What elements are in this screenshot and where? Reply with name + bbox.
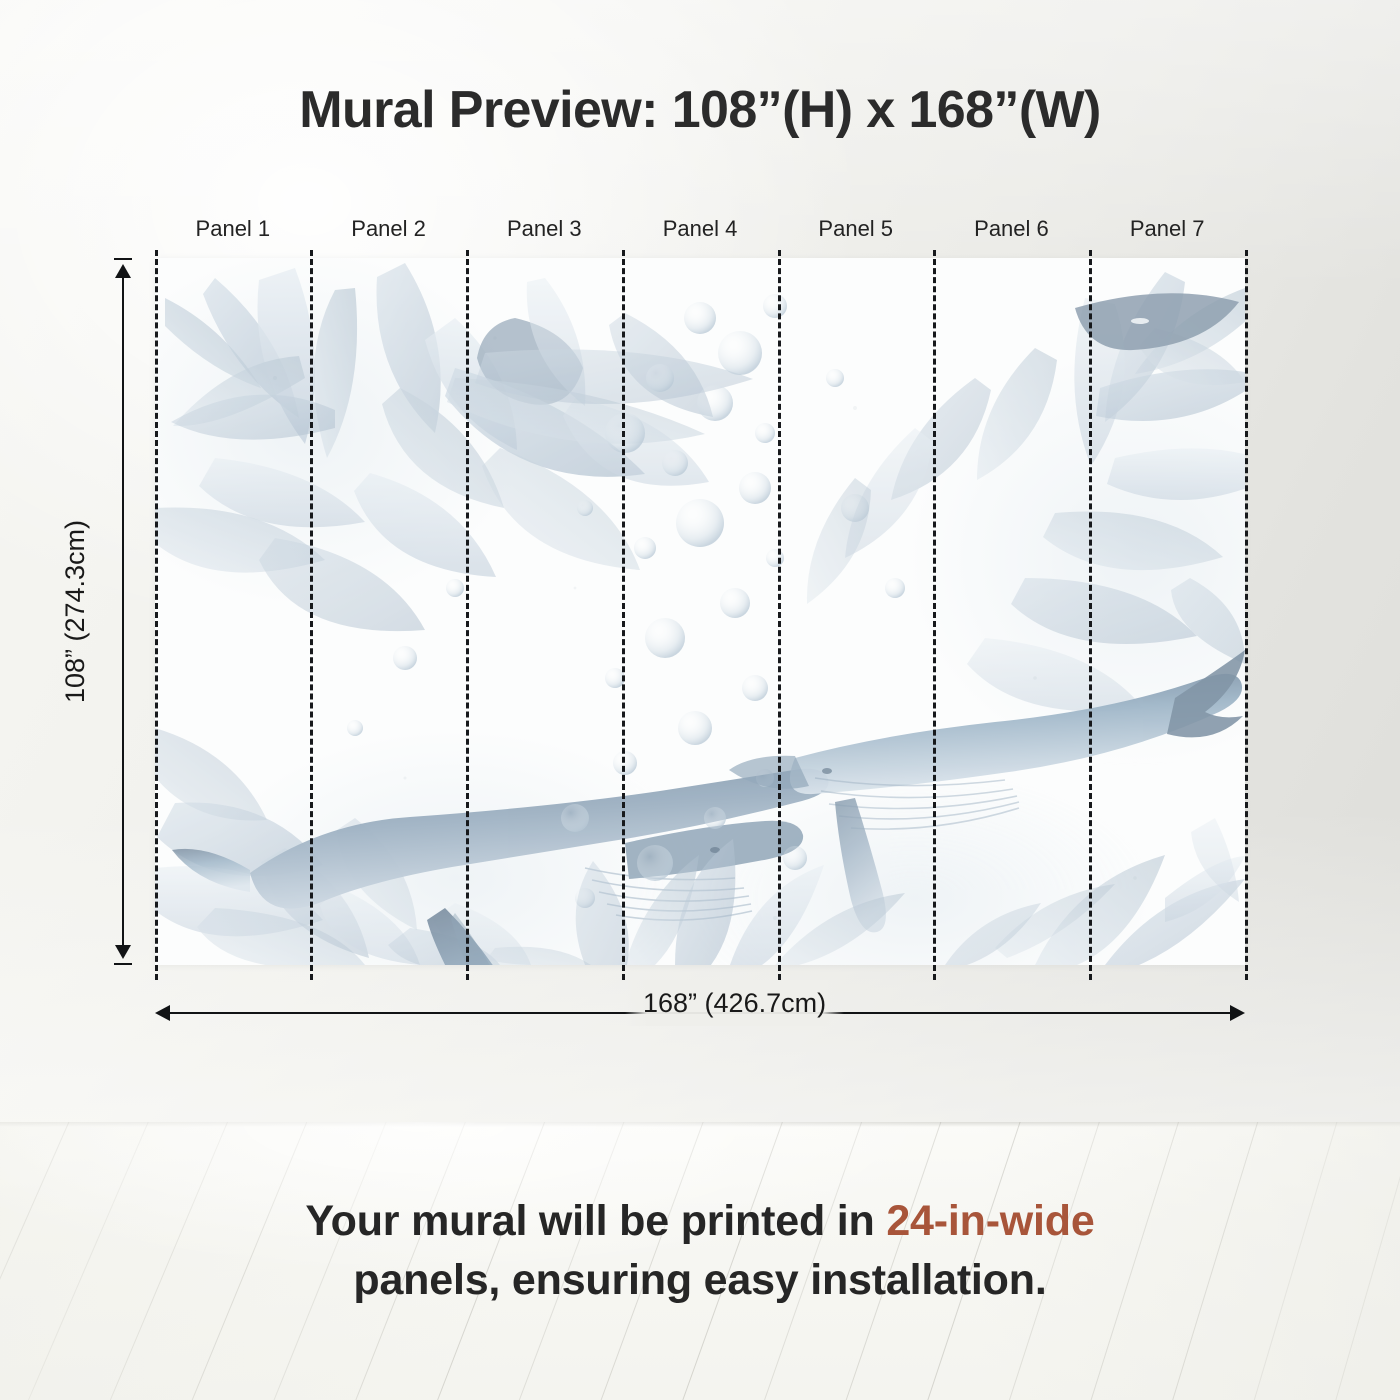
width-arrowhead-right <box>1230 1005 1245 1021</box>
caption-line-2: panels, ensuring easy installation. <box>0 1251 1400 1310</box>
panel-label-7: Panel 7 <box>1089 212 1245 246</box>
page-title: Mural Preview: 108”(H) x 168”(W) <box>0 80 1400 140</box>
height-tick-top <box>114 258 132 260</box>
height-arrowhead-down <box>115 945 131 959</box>
height-arrow-shaft <box>122 266 124 957</box>
height-dimension-label: 108” (274.3cm) <box>55 258 95 965</box>
width-dimension-arrow: 168” (426.7cm) <box>155 1002 1245 1024</box>
footer-caption: Your mural will be printed in 24-in-wide… <box>0 1192 1400 1310</box>
panel-label-1: Panel 1 <box>155 212 311 246</box>
panel-label-row: Panel 1 Panel 2 Panel 3 Panel 4 Panel 5 … <box>155 212 1245 246</box>
caption-line-1: Your mural will be printed in 24-in-wide <box>0 1192 1400 1251</box>
watercolor-ocean-illustration <box>155 258 1245 965</box>
mural-preview-scene: Mural Preview: 108”(H) x 168”(W) Panel 1… <box>0 0 1400 1400</box>
width-dimension-label: 168” (426.7cm) <box>625 980 844 1026</box>
height-arrowhead-up <box>115 264 131 278</box>
panel-label-3: Panel 3 <box>466 212 622 246</box>
panel-label-2: Panel 2 <box>311 212 467 246</box>
panel-label-6: Panel 6 <box>934 212 1090 246</box>
mural-artwork <box>155 258 1245 965</box>
width-arrowhead-left <box>155 1005 170 1021</box>
panel-label-4: Panel 4 <box>622 212 778 246</box>
caption-accent-text: 24-in-wide <box>886 1197 1094 1245</box>
height-tick-bottom <box>114 963 132 965</box>
height-dimension-arrow <box>112 258 134 965</box>
panel-label-5: Panel 5 <box>778 212 934 246</box>
caption-text-before: Your mural will be printed in <box>305 1197 886 1245</box>
